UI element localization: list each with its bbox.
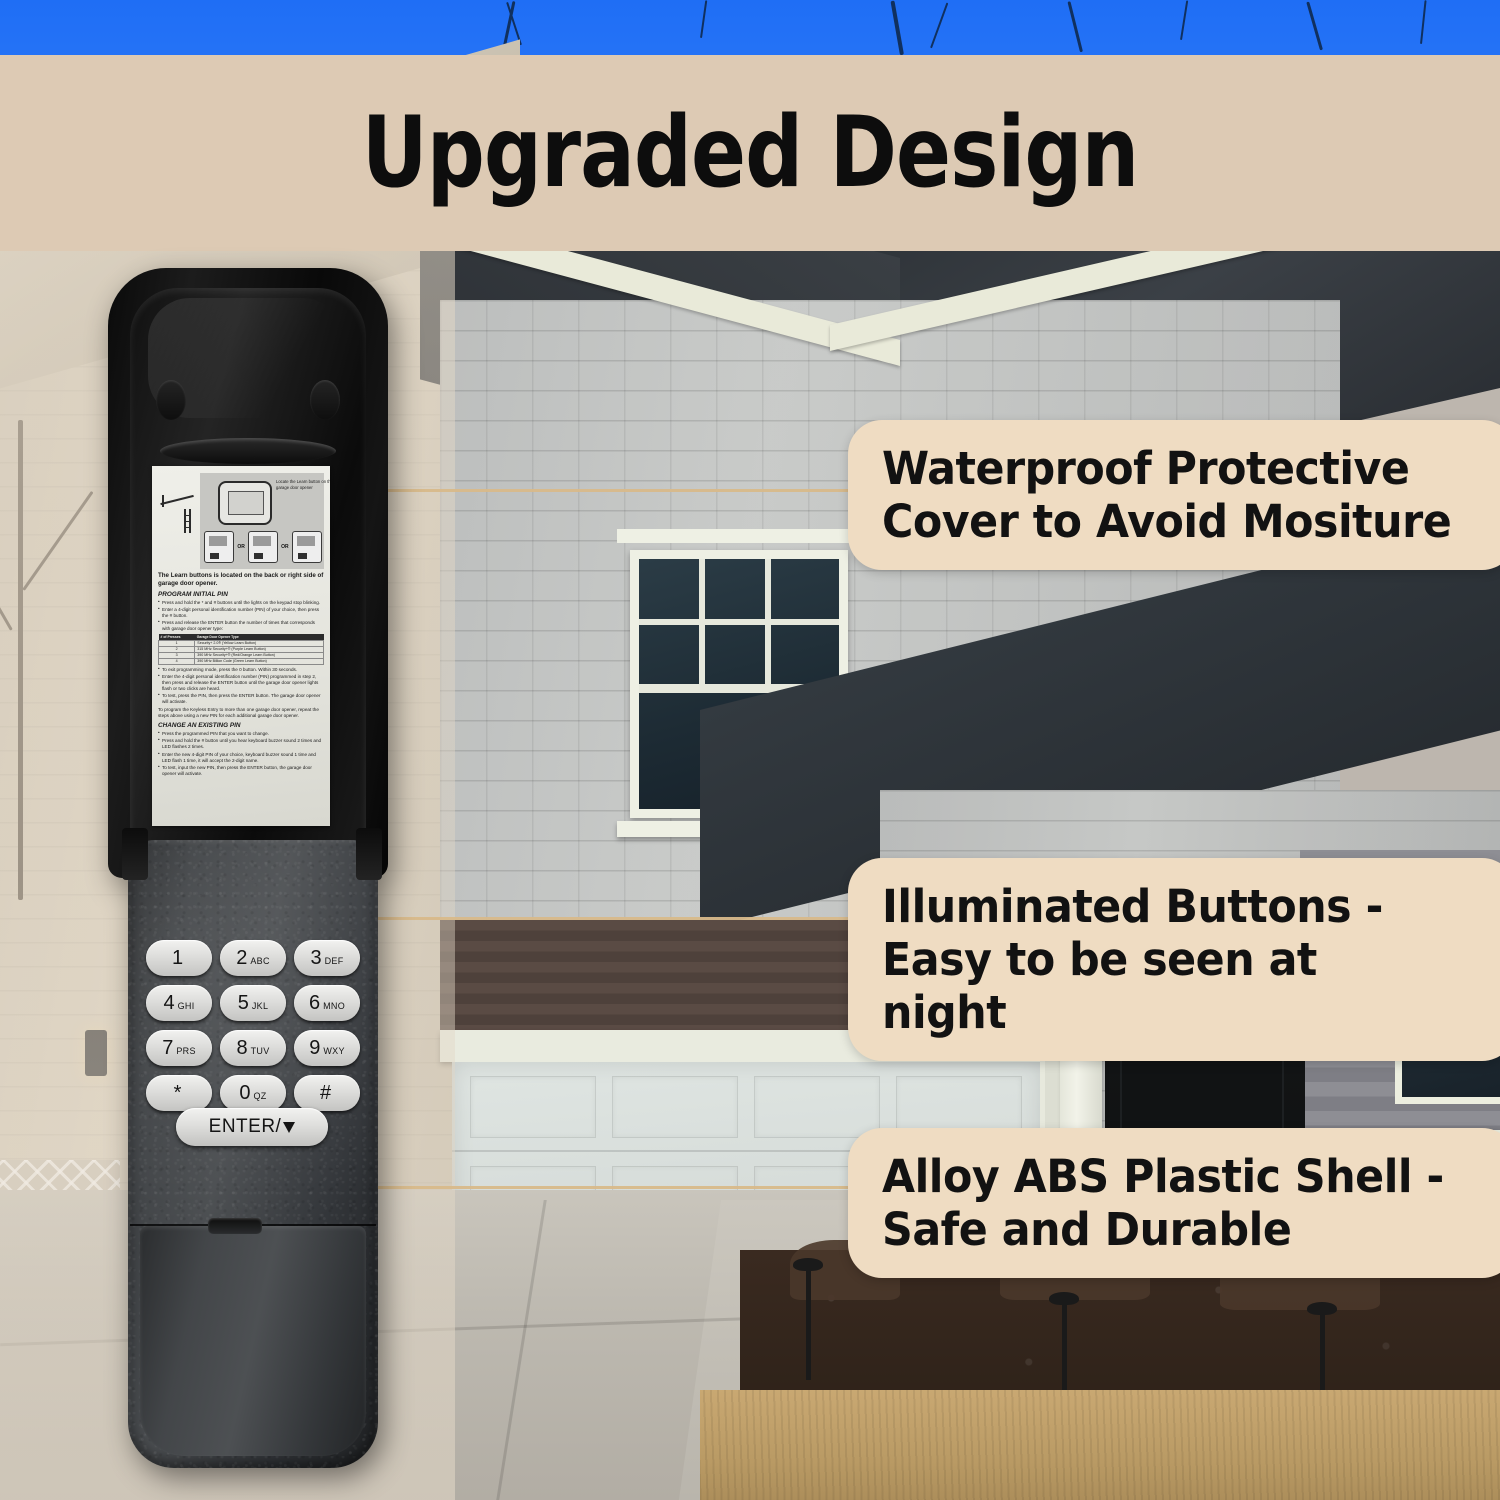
- key-digit: 8: [236, 1038, 247, 1058]
- label-bullet: To exit programming mode, press the 0 bu…: [158, 667, 324, 673]
- or-separator-1: OR: [237, 544, 245, 550]
- label-bullet: To test, input the new PIN, then press t…: [158, 765, 324, 777]
- garage-rail-illustration: [160, 493, 200, 543]
- label-section-program-pin: PROGRAM INITIAL PIN: [158, 591, 324, 598]
- callout-waterproof-cover: Waterproof Protective Cover to Avoid Mos…: [848, 420, 1500, 570]
- connector-line-3: [350, 1186, 860, 1189]
- key-5[interactable]: 5 JKL: [220, 985, 286, 1021]
- table-cell: 4: [159, 658, 195, 664]
- key-3[interactable]: 3 DEF: [294, 940, 360, 976]
- label-bullet: Press and release the ENTER button the n…: [158, 620, 324, 632]
- callout-text: Illuminated Buttons - Easy to be seen at…: [882, 880, 1452, 1039]
- key-digit: 2: [236, 948, 247, 968]
- connector-line-1: [350, 489, 860, 492]
- label-bullet: Enter the 4-digit personal identificatio…: [158, 674, 324, 692]
- window-header: [617, 529, 861, 543]
- label-bullet: Press and hold the # button until you he…: [158, 738, 324, 750]
- key-digit: #: [320, 1083, 331, 1103]
- enter-button[interactable]: ENTER/: [176, 1108, 328, 1146]
- key-6[interactable]: 6 MNO: [294, 985, 360, 1021]
- header-banner: Upgraded Design: [0, 55, 1500, 251]
- table-row: 4 390 MHz Billion Code (Green Learn Butt…: [159, 658, 324, 664]
- callout-abs-shell: Alloy ABS Plastic Shell - Safe and Durab…: [848, 1128, 1500, 1278]
- key-digit: 7: [162, 1038, 173, 1058]
- key-digit: 4: [163, 993, 174, 1013]
- key-letters: QZ: [254, 1086, 267, 1101]
- callout-text: Waterproof Protective Cover to Avoid Mos…: [882, 442, 1452, 548]
- instruction-diagram: Locate the Learn button on the garage do…: [158, 471, 324, 569]
- key-hash[interactable]: #: [294, 1075, 360, 1111]
- key-letters: ABC: [250, 951, 269, 966]
- label-paragraph: To program the Keyless Entry to more tha…: [158, 707, 324, 719]
- enter-label: ENTER/: [209, 1116, 282, 1138]
- key-digit: 5: [238, 993, 249, 1013]
- key-8[interactable]: 8 TUV: [220, 1030, 286, 1066]
- label-section-change-pin: CHANGE AN EXISTING PIN: [158, 722, 324, 729]
- callout-illuminated-buttons: Illuminated Buttons - Easy to be seen at…: [848, 858, 1500, 1061]
- key-7[interactable]: 7 PRS: [146, 1030, 212, 1066]
- key-letters: DEF: [325, 951, 344, 966]
- label-bullet: Press and hold the * and # buttons until…: [158, 600, 324, 606]
- battery-latch-notch[interactable]: [208, 1218, 262, 1234]
- garage-door-keypad: Locate the Learn button on the garage do…: [100, 268, 400, 1468]
- key-9[interactable]: 9 WXY: [294, 1030, 360, 1066]
- label-heading: The Learn buttons is located on the back…: [158, 572, 324, 588]
- garage-door-panel: [470, 1076, 596, 1138]
- down-arrow-icon: [283, 1122, 295, 1133]
- cover-stud-right: [310, 380, 340, 420]
- label-bullet: To test, press the PIN, then press the E…: [158, 693, 324, 705]
- key-digit: 6: [309, 993, 320, 1013]
- garage-door-panel: [754, 1076, 880, 1138]
- cover-stud-left: [156, 380, 186, 420]
- opener-type-table: # of Presses Garage Door Opener Type 1 S…: [158, 634, 324, 665]
- opener-illustration: [218, 481, 272, 525]
- key-letters: TUV: [251, 1041, 270, 1056]
- opener-variant-1: [204, 531, 234, 563]
- opener-variant-3: [292, 531, 322, 563]
- key-2[interactable]: 2 ABC: [220, 940, 286, 976]
- path-light-head: [793, 1258, 823, 1271]
- learn-button-variants: OR OR: [204, 529, 322, 565]
- garage-door-panel: [612, 1076, 738, 1138]
- callout-text: Alloy ABS Plastic Shell - Safe and Durab…: [882, 1150, 1452, 1256]
- battery-cover[interactable]: [140, 1226, 366, 1456]
- key-digit: 3: [310, 948, 321, 968]
- key-letters: JKL: [252, 996, 268, 1011]
- page-title: Upgraded Design: [362, 104, 1139, 202]
- key-letters: MNO: [323, 996, 345, 1011]
- label-bullet: Press the programmed PIN that you want t…: [158, 731, 324, 737]
- path-light-head: [1049, 1292, 1079, 1305]
- key-digit: *: [174, 1083, 182, 1103]
- cover-hinge-right: [356, 828, 382, 880]
- diagram-callout-text: Locate the Learn button on the garage do…: [276, 479, 330, 491]
- key-digit: 0: [239, 1083, 250, 1103]
- label-bullet: Enter the new 4-digit PIN of your choice…: [158, 752, 324, 764]
- cover-thumb-notch[interactable]: [160, 438, 336, 464]
- instruction-label: Locate the Learn button on the garage do…: [152, 466, 330, 826]
- key-1[interactable]: 1: [146, 940, 212, 976]
- key-0[interactable]: 0 QZ: [220, 1075, 286, 1111]
- keypad-buttons[interactable]: 1 2 ABC 3 DEF 4 GHI 5 JKL 6 MNO: [146, 940, 360, 1111]
- key-digit: 1: [172, 948, 183, 968]
- path-light-post: [806, 1268, 811, 1380]
- key-letters: GHI: [178, 996, 195, 1011]
- or-separator-2: OR: [281, 544, 289, 550]
- path-light-head: [1307, 1302, 1337, 1315]
- key-letters: WXY: [323, 1041, 344, 1056]
- product-infographic: Upgraded Design Waterproof Protective Co…: [0, 0, 1500, 1500]
- key-star[interactable]: *: [146, 1075, 212, 1111]
- label-bullet: Enter a 4-digit personal identification …: [158, 607, 324, 619]
- connector-line-2: [350, 917, 860, 920]
- cover-hinge-left: [122, 828, 148, 880]
- key-4[interactable]: 4 GHI: [146, 985, 212, 1021]
- opener-variant-2: [248, 531, 278, 563]
- window-mullion: [639, 619, 839, 625]
- lawn: [700, 1390, 1500, 1500]
- key-digit: 9: [309, 1038, 320, 1058]
- table-cell: 390 MHz Billion Code (Green Learn Button…: [195, 658, 324, 664]
- key-letters: PRS: [176, 1041, 195, 1056]
